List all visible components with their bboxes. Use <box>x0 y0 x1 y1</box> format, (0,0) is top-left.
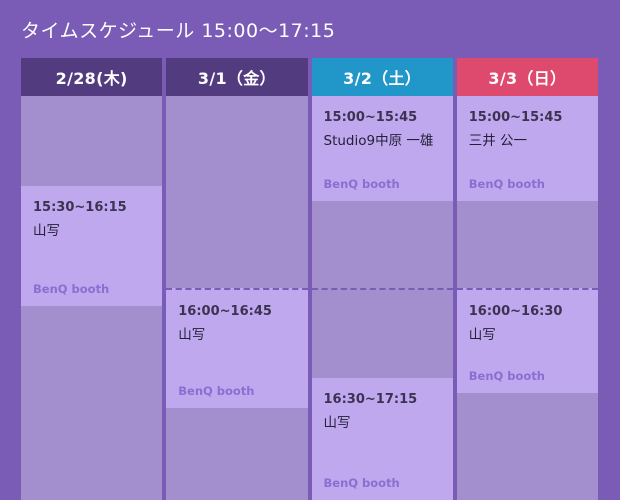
event-presenter: 山写 <box>324 413 441 435</box>
schedule-event[interactable]: 15:00~15:45三井 公一BenQ booth <box>457 96 598 201</box>
column-header-label: 3/1（金） <box>198 65 276 89</box>
column-header-label: 2/28(木) <box>56 65 128 89</box>
timetable-page: タイムスケジュール 15:00〜17:15 2/28(木)15:30~16:15… <box>0 0 620 500</box>
event-time: 16:00~16:30 <box>469 302 586 322</box>
event-venue: BenQ booth <box>33 282 109 296</box>
time-divider-line <box>312 288 453 290</box>
event-time: 16:00~16:45 <box>178 302 295 322</box>
event-time: 15:00~15:45 <box>324 108 441 128</box>
column-body: 15:00~15:45三井 公一BenQ booth16:00~16:30山写B… <box>457 96 598 500</box>
column-header-label: 3/3（日） <box>488 65 566 89</box>
event-presenter: 山写 <box>178 325 295 347</box>
event-venue: BenQ booth <box>469 369 545 383</box>
event-venue: BenQ booth <box>324 177 400 191</box>
column-body: 16:00~16:45山写BenQ booth <box>166 96 307 500</box>
event-time: 15:00~15:45 <box>469 108 586 128</box>
event-presenter: 山写 <box>469 325 586 347</box>
schedule-grid: 2/28(木)15:30~16:15山写BenQ booth3/1（金）16:0… <box>21 58 598 500</box>
event-venue: BenQ booth <box>324 476 400 490</box>
column-header-3[interactable]: 3/2（土） <box>312 58 453 96</box>
page-title: タイムスケジュール 15:00〜17:15 <box>21 16 335 43</box>
event-venue: BenQ booth <box>469 177 545 191</box>
column-body: 15:30~16:15山写BenQ booth <box>21 96 162 500</box>
column-body: 15:00~15:45Studio9中原 一雄BenQ booth16:30~1… <box>312 96 453 500</box>
event-presenter: 山写 <box>33 221 150 243</box>
schedule-event[interactable]: 15:00~15:45Studio9中原 一雄BenQ booth <box>312 96 453 201</box>
event-presenter: 三井 公一 <box>469 131 586 153</box>
column-header-4[interactable]: 3/3（日） <box>457 58 598 96</box>
schedule-event[interactable]: 16:00~16:45山写BenQ booth <box>166 288 307 408</box>
column-header-label: 3/2（土） <box>343 65 421 89</box>
schedule-column: 3/1（金）16:00~16:45山写BenQ booth <box>166 58 307 500</box>
column-header-2[interactable]: 3/1（金） <box>166 58 307 96</box>
schedule-event[interactable]: 15:30~16:15山写BenQ booth <box>21 186 162 306</box>
schedule-column: 2/28(木)15:30~16:15山写BenQ booth <box>21 58 162 500</box>
event-time: 16:30~17:15 <box>324 390 441 410</box>
event-presenter: Studio9中原 一雄 <box>324 131 441 153</box>
schedule-event[interactable]: 16:30~17:15山写BenQ booth <box>312 378 453 500</box>
schedule-event[interactable]: 16:00~16:30山写BenQ booth <box>457 288 598 393</box>
schedule-column: 3/2（土）15:00~15:45Studio9中原 一雄BenQ booth1… <box>312 58 453 500</box>
event-venue: BenQ booth <box>178 384 254 398</box>
event-time: 15:30~16:15 <box>33 198 150 218</box>
schedule-column: 3/3（日）15:00~15:45三井 公一BenQ booth16:00~16… <box>457 58 598 500</box>
column-header-1[interactable]: 2/28(木) <box>21 58 162 96</box>
